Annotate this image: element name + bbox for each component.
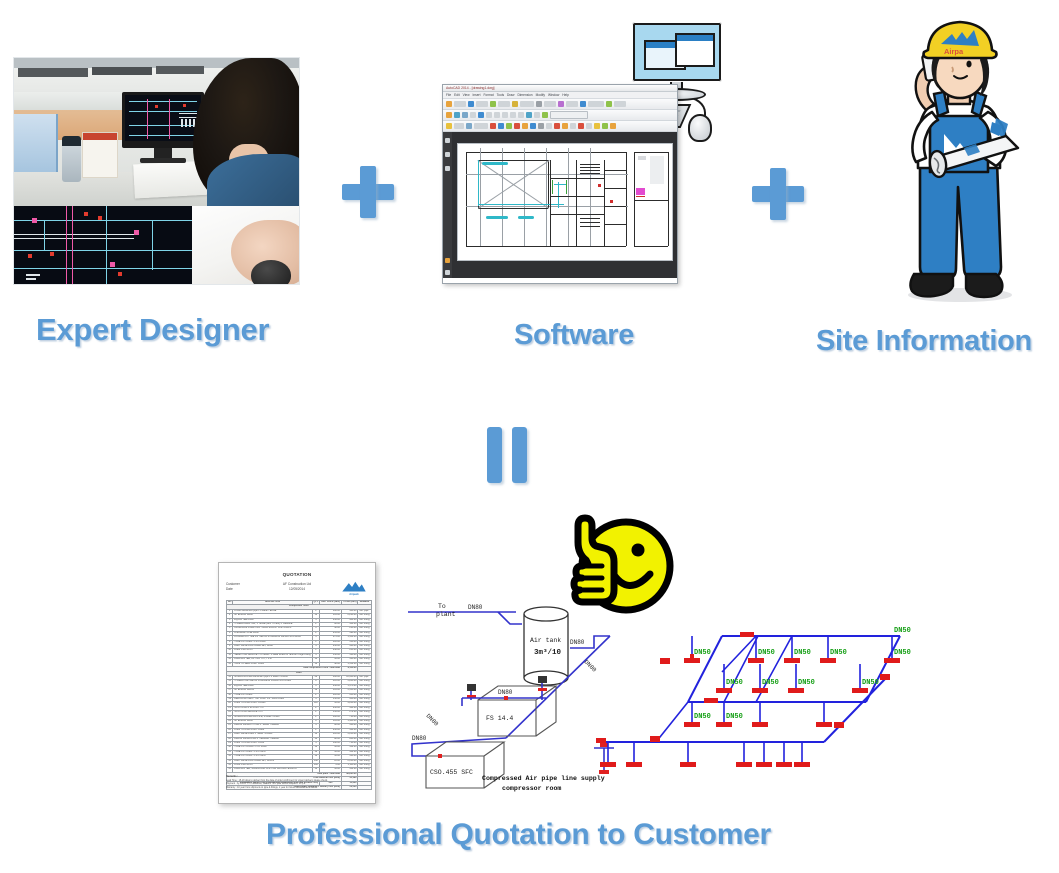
helmet-brand-text: Airpa — [944, 47, 964, 56]
dim-style-field[interactable] — [454, 123, 464, 129]
cell-description: DOUBLE OUT TEE 1/2" METAL STAINLESS VALV… — [233, 636, 312, 640]
cell-remark: Alu. fitting — [358, 719, 371, 723]
label-dn80-right: DN80 — [570, 639, 585, 646]
cell-remark: Alu. fitting — [358, 702, 371, 706]
table-body: Compressor room1DN100 Aluminium pipe x 4… — [227, 605, 372, 790]
menu-item[interactable]: Edit — [454, 93, 460, 97]
infographic-canvas: AutoCAD 2014 - [drawing1.dwg] File Edit … — [0, 0, 1059, 873]
cell-remark: Alu. fitting — [358, 706, 371, 710]
drop-label: DN50 — [694, 649, 711, 657]
menu-bar[interactable]: File Edit View Insert Format Tools Draw … — [443, 92, 677, 99]
paste-icon[interactable] — [486, 112, 492, 118]
equals-operator — [484, 427, 530, 483]
tool-icon[interactable] — [445, 270, 450, 275]
piping-iso-svg: To plant DN80 Air tank 3m³/10 DN80 DN80 — [398, 588, 628, 800]
caption-site-information: Site Information — [816, 325, 1032, 358]
table-icon[interactable] — [530, 123, 536, 129]
label-dn80-top: DN80 — [468, 604, 483, 611]
regen-icon[interactable] — [518, 112, 524, 118]
hatch-icon[interactable] — [490, 123, 496, 129]
properties-icon[interactable] — [580, 101, 586, 107]
cell-description: SELECTING BRACKET + 2 Meter / 2 Base scr… — [233, 653, 312, 657]
cad-application-window[interactable]: AutoCAD 2014 - [drawing1.dwg] File Edit … — [442, 84, 678, 284]
bottle-cap — [62, 136, 81, 146]
cell-remark: Alu. fitting — [358, 645, 371, 649]
label-cso455: CSO.455 SFC — [430, 769, 473, 776]
desk-monitor — [122, 92, 204, 148]
ok-icon[interactable] — [542, 112, 548, 118]
dropdown-field[interactable] — [520, 101, 534, 107]
dropdown-field[interactable] — [588, 101, 604, 107]
insert-icon[interactable] — [506, 123, 512, 129]
iso-caption-line2: compressor room — [502, 785, 561, 792]
cell-remark: Alu. fitting — [358, 750, 371, 754]
drop-point — [816, 702, 832, 727]
dropdown-field[interactable] — [614, 101, 626, 107]
tap-point — [504, 696, 508, 700]
spline-icon[interactable] — [538, 123, 544, 129]
cell-remark: Alu. fitting — [358, 715, 371, 719]
polyline-icon[interactable] — [546, 123, 552, 129]
plus-operator-2 — [752, 168, 804, 220]
quotation-table: NO DESCRIPTION QTY UNIT PRICE (HK$) TOTA… — [226, 600, 372, 790]
air-tank: Air tank 3m³/10 — [524, 607, 568, 685]
col-total: TOTAL (HK$) — [341, 601, 358, 605]
mouse-illustration — [688, 114, 712, 142]
office-scene — [14, 58, 299, 206]
cell-remark: Alu. fitting — [358, 640, 371, 644]
drop-point — [756, 742, 772, 767]
drop-label: DN50 — [794, 649, 811, 657]
dropdown-field[interactable] — [544, 101, 556, 107]
quotation-document: QUOTATION Customer Date AF Construction … — [218, 562, 376, 804]
quotation-subheader: AF Construction Ltd 12/05/2014 — [260, 582, 334, 592]
toolbar-row-1[interactable] — [443, 99, 677, 110]
menu-item[interactable]: View — [463, 93, 470, 97]
zoom-extents-icon[interactable] — [510, 112, 516, 118]
dim-scale-field[interactable] — [474, 123, 488, 129]
window-titlebar: AutoCAD 2014 - [drawing1.dwg] — [443, 85, 677, 92]
label-plant: plant — [436, 611, 456, 618]
new-icon[interactable] — [446, 112, 452, 118]
valve-right — [538, 676, 547, 700]
drop-point — [600, 742, 616, 767]
date-label: Date — [226, 587, 233, 591]
cut-icon[interactable] — [470, 112, 476, 118]
quotation-title: QUOTATION — [226, 572, 368, 577]
trim-icon[interactable] — [594, 123, 600, 129]
iso-caption-line1: Compressed Air pipe line supply — [482, 775, 605, 782]
computer-mouse — [251, 260, 291, 284]
cell-remark: Alu. fitting — [358, 623, 371, 627]
tool-icon[interactable] — [445, 138, 450, 143]
cell-remark: Alu. fitting — [358, 768, 371, 772]
cell-remark: Alu. fitting — [358, 737, 371, 741]
drop-label: DN50 — [894, 627, 911, 635]
block-icon[interactable] — [498, 123, 504, 129]
cell-remark: Alu. fitting — [358, 711, 371, 715]
label-tank-volume: 3m³/10 — [534, 648, 562, 657]
smiley-eye — [632, 544, 645, 557]
software-illustration: AutoCAD 2014 - [drawing1.dwg] File Edit … — [432, 22, 722, 300]
cell-remark: Alu. fitting — [358, 746, 371, 750]
drop-label: DN50 — [798, 679, 815, 687]
cad-drawing-inset — [14, 206, 192, 284]
plot-icon[interactable] — [490, 101, 496, 107]
ceiling-panel — [156, 66, 204, 74]
color-icon[interactable] — [558, 101, 564, 107]
dropdown-field[interactable] — [566, 101, 578, 107]
zoom-window-icon[interactable] — [502, 112, 508, 118]
cell-remark: Alu. fitting — [358, 649, 371, 653]
circle-icon[interactable] — [554, 123, 560, 129]
cell-remark: Alu. fitting — [358, 636, 371, 640]
logo-text: Airpack — [349, 593, 359, 596]
drop-point — [752, 702, 768, 727]
menu-item[interactable]: Dimension — [518, 93, 533, 97]
ellipse-icon[interactable] — [578, 123, 584, 129]
cell-remark: Alu. fitting — [358, 733, 371, 737]
dropdown-field[interactable] — [498, 101, 510, 107]
drop-label: DN50 — [726, 679, 743, 687]
piping-grid-diagram: DN50 DN50 DN50 DN50 DN50 DN50 DN50 DN50 … — [596, 606, 908, 792]
undo-icon[interactable] — [454, 112, 460, 118]
table-row: 7DOUBLE OUT TEE 1/2" METAL STAINLESS VAL… — [227, 636, 372, 640]
monitor-window-2 — [675, 33, 715, 67]
hand-on-mouse-photo — [192, 206, 299, 284]
label-dn80-lower: DN80 — [412, 735, 427, 742]
cell-remark: Alu. fitting — [358, 742, 371, 746]
cell-remark: Alu. fitting — [358, 614, 371, 618]
arc-icon[interactable] — [562, 123, 568, 129]
cell-remark: Alu. fitting — [358, 618, 371, 622]
site-engineer-illustration: All — [868, 12, 1048, 304]
floor-plan-drawing — [457, 143, 673, 261]
remarks-title: Remarks : — [226, 775, 238, 778]
menu-item[interactable]: Window — [548, 93, 559, 97]
cell-remark: Alu. fitting — [358, 627, 371, 631]
menu-item[interactable]: Format — [483, 93, 493, 97]
open-file-icon[interactable] — [446, 101, 452, 107]
drop-label: DN50 — [830, 649, 847, 657]
left-toolbar[interactable] — [443, 132, 452, 278]
dropdown-field[interactable] — [454, 101, 466, 107]
caption-professional-quotation: Professional Quotation to Customer — [266, 818, 771, 852]
drop-points-bottom — [600, 742, 810, 767]
cell-remark: Alu. fitting — [358, 764, 371, 768]
drop-points-upper — [684, 636, 900, 663]
monitor-screen-cad — [125, 95, 201, 141]
text-icon[interactable] — [514, 123, 520, 129]
tool-icon[interactable] — [445, 258, 450, 263]
drop-point — [736, 742, 752, 767]
mtext-icon[interactable] — [522, 123, 528, 129]
worker-eye — [966, 61, 971, 68]
col-unit-price: UNIT PRICE (HK$) — [320, 601, 342, 605]
piping-isometric-diagram: To plant DN80 Air tank 3m³/10 DN80 DN80 — [398, 588, 628, 800]
cell-remark: Alu. fitting — [358, 631, 371, 635]
cell-remark: Alu. fitting — [358, 680, 371, 684]
layer-icon[interactable] — [512, 101, 518, 107]
cell-remark: Alu. fitting — [358, 755, 371, 759]
drop-point — [626, 742, 642, 767]
drop-labels: DN50 DN50 DN50 DN50 DN50 DN50 DN50 DN50 … — [694, 627, 911, 721]
quotation-remarks: Remarks : Lead Time : 15-20 days to deli… — [226, 775, 368, 790]
tool-icon[interactable] — [445, 152, 450, 157]
caption-software: Software — [514, 319, 634, 352]
tool-icon[interactable] — [445, 166, 450, 171]
water-bottle — [62, 142, 81, 182]
drop-label: DN50 — [862, 679, 879, 687]
menu-item[interactable]: Tools — [497, 93, 504, 97]
logo-mark — [341, 581, 367, 593]
ceiling-panel — [92, 67, 152, 75]
render-icon[interactable] — [534, 112, 540, 118]
label-to: To — [438, 603, 446, 610]
extend-icon[interactable] — [602, 123, 608, 129]
cell-remark: Alu. fitting — [358, 662, 371, 666]
dropdown-field[interactable] — [476, 101, 488, 107]
label-dn80-mid: DN80 — [498, 689, 513, 696]
pipe-riser-left — [498, 612, 522, 624]
worker-trousers — [920, 162, 1001, 278]
cell-remark: Alu. fitting — [358, 697, 371, 701]
cell-remark: Alu. fitting — [358, 724, 371, 728]
label-air-tank: Air tank — [530, 637, 561, 644]
copy-icon[interactable] — [478, 112, 484, 118]
cell-remark: Alu. fitting — [358, 653, 371, 657]
caption-expert-designer: Expert Designer — [36, 312, 269, 348]
cell-remark: Alu. fitting — [358, 689, 371, 693]
monitor-frame — [632, 22, 722, 82]
command-combobox[interactable] — [550, 111, 588, 119]
toolbar-row-2[interactable] — [443, 110, 677, 121]
label-dn80-diag2: DN80 — [425, 712, 440, 727]
cell-remark: Alu. fitting — [358, 658, 371, 662]
drop-point — [794, 742, 810, 767]
customer-label: Customer — [226, 582, 240, 586]
monitor-base — [140, 158, 186, 163]
drop-label: DN50 — [894, 649, 911, 657]
company-logo: Airpack — [340, 580, 368, 596]
cell-remark: Alu. fitting — [358, 728, 371, 732]
label-fs144: FS 14.4 — [486, 715, 513, 722]
date-value: 12/05/2014 — [260, 587, 334, 592]
drop-point — [776, 742, 792, 767]
expert-designer-photo — [14, 58, 299, 284]
menu-item[interactable]: Help — [562, 93, 569, 97]
drop-label: DN50 — [762, 679, 779, 687]
dim-linear-icon[interactable] — [446, 123, 452, 129]
compressor-tap — [438, 754, 442, 758]
menu-item[interactable]: File — [446, 93, 451, 97]
point-icon[interactable] — [586, 123, 592, 129]
drop-label: DN50 — [694, 713, 711, 721]
drop-label: DN50 — [726, 713, 743, 721]
menu-item[interactable]: Insert — [473, 93, 481, 97]
redo-icon[interactable] — [462, 112, 468, 118]
cell-remark: Alu. fitting — [358, 693, 371, 697]
quotation-meta: Customer Date — [226, 582, 240, 592]
worker-svg: All — [868, 12, 1048, 304]
menu-item[interactable]: Draw — [507, 93, 514, 97]
dim-aligned-icon[interactable] — [466, 123, 472, 129]
cell-remark: Alu. fitting — [358, 759, 371, 763]
piping-grid-svg: DN50 DN50 DN50 DN50 DN50 DN50 DN50 DN50 … — [596, 606, 908, 792]
equipment-box-filter — [478, 686, 556, 736]
drop-label: DN50 — [758, 649, 775, 657]
remark-line: Warranty : 10 year from shipment on pipe… — [226, 787, 368, 790]
plus-operator-1 — [342, 166, 394, 218]
table-row: 11SELECTING BRACKET + 2 Meter / 2 Base s… — [227, 653, 372, 657]
line-icon[interactable] — [536, 101, 542, 107]
worker-nose — [952, 67, 953, 72]
menu-item[interactable]: Modify — [536, 93, 545, 97]
toolbar-row-3[interactable] — [443, 121, 677, 132]
rectangle-icon[interactable] — [570, 123, 576, 129]
offset-icon[interactable] — [610, 123, 616, 129]
save-icon[interactable] — [468, 101, 474, 107]
pan-icon[interactable] — [494, 112, 500, 118]
viewport-icon[interactable] — [526, 112, 532, 118]
col-remark: REMARK — [358, 601, 371, 605]
cell-remark: Alu. fitting — [358, 684, 371, 688]
ceiling-panel — [18, 68, 88, 77]
drop-point — [680, 742, 696, 767]
match-icon[interactable] — [606, 101, 612, 107]
desk-calendar — [82, 132, 118, 178]
